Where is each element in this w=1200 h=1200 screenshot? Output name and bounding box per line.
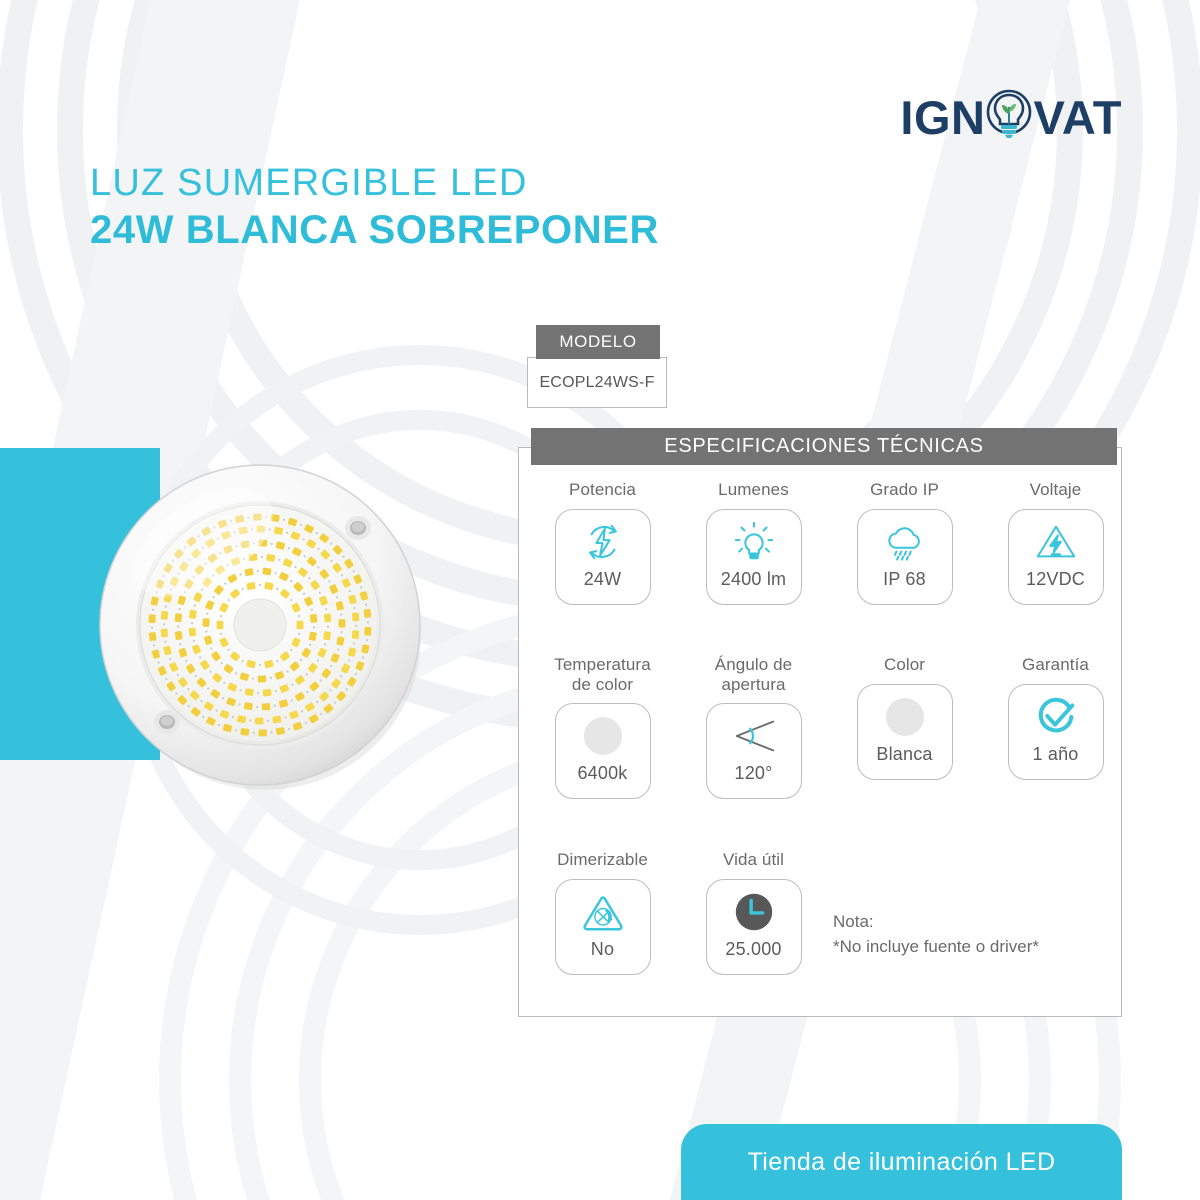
spec-tile: Blanca	[857, 684, 953, 780]
warning-bolt-triangle-icon	[1033, 517, 1079, 567]
spec-row: Temperaturade color6400kÁngulo deapertur…	[527, 655, 1131, 799]
specifications-header-label: ESPECIFICACIONES TÉCNICAS	[664, 435, 983, 458]
spec-value: 25.000	[725, 940, 781, 958]
spec-value: Blanca	[876, 745, 932, 763]
clock-lifetime-icon	[731, 887, 777, 937]
title-line-1: LUZ SUMERGIBLE LED	[90, 163, 659, 204]
spec-tile: 1 año	[1008, 684, 1104, 780]
spec-label: Ángulo deapertura	[715, 655, 792, 696]
footer-banner: Tienda de iluminación LED	[681, 1124, 1122, 1200]
spec-tile: IP 68	[857, 509, 953, 605]
rain-cloud-icon	[882, 517, 928, 567]
spec-tile: 120°	[706, 703, 802, 799]
spec-cell-potencia: Potencia24W	[527, 480, 678, 605]
spec-cell-grado-ip: Grado IPIP 68	[829, 480, 980, 605]
spec-label: Potencia	[569, 480, 636, 502]
model-box: ECOPL24WS-F	[527, 357, 667, 408]
spec-label: Lumenes	[718, 480, 789, 502]
spec-cell-voltaje: Voltaje12VDC	[980, 480, 1131, 605]
page-title: LUZ SUMERGIBLE LED 24W BLANCA SOBREPONER	[90, 163, 659, 255]
power-recycle-bolt-icon	[580, 517, 626, 567]
shining-bulb-icon	[731, 517, 777, 567]
spec-value: IP 68	[883, 570, 926, 588]
spec-tile: 25.000	[706, 879, 802, 975]
spec-label: Vida útil	[723, 850, 784, 872]
model-header-label: MODELO	[559, 332, 636, 352]
spec-tile: 24W	[555, 509, 651, 605]
spec-tile: 12VDC	[1008, 509, 1104, 605]
check-circle-icon	[1033, 692, 1079, 742]
specifications-header: ESPECIFICACIONES TÉCNICAS	[531, 428, 1117, 465]
spec-tile: 2400 lm	[706, 509, 802, 605]
title-line-2: 24W BLANCA SOBREPONER	[90, 206, 659, 255]
spec-tile: No	[555, 879, 651, 975]
spec-row: Potencia24WLumenes2400 lmGrado IPIP 68Vo…	[527, 480, 1131, 605]
spec-label: Voltaje	[1030, 480, 1082, 502]
spec-value: 120°	[734, 764, 772, 782]
spec-row: DimerizableNoVida útil25.000	[527, 850, 829, 975]
product-image-led-panel	[95, 460, 425, 790]
model-header: MODELO	[536, 325, 660, 359]
no-dimmer-triangle-icon	[580, 887, 626, 937]
model-value: ECOPL24WS-F	[539, 374, 654, 392]
spec-value: 24W	[584, 570, 622, 588]
spec-value: 1 año	[1032, 745, 1078, 763]
spec-label: Grado IP	[870, 480, 939, 502]
spec-cell-ngulo-de-apertura: Ángulo deapertura120°	[678, 655, 829, 799]
brand-logo: IGN VAT	[900, 88, 1122, 147]
spec-cell-vida-til: Vida útil25.000	[678, 850, 829, 975]
spec-cell-temperatura-de-color: Temperaturade color6400k	[527, 655, 678, 799]
color-swatch-circle-icon	[584, 711, 622, 761]
spec-value: 6400k	[577, 764, 627, 782]
spec-value: 12VDC	[1026, 570, 1085, 588]
footer-banner-label: Tienda de iluminación LED	[748, 1148, 1056, 1177]
spec-label: Color	[884, 655, 925, 677]
spec-value: No	[591, 940, 614, 958]
spec-tile: 6400k	[555, 703, 651, 799]
note-title: Nota:	[833, 910, 1039, 935]
note-text: *No incluye fuente o driver*	[833, 935, 1039, 960]
beam-angle-icon	[729, 711, 779, 761]
logo-text-right: VAT	[1033, 94, 1122, 141]
spec-cell-color: ColorBlanca	[829, 655, 980, 799]
note-block: Nota: *No incluye fuente o driver*	[833, 910, 1039, 959]
spec-label: Dimerizable	[557, 850, 648, 872]
spec-cell-garant-a: Garantía1 año	[980, 655, 1131, 799]
spec-label: Temperaturade color	[554, 655, 651, 696]
spec-cell-lumenes: Lumenes2400 lm	[678, 480, 829, 605]
spec-value: 2400 lm	[721, 570, 786, 588]
lightbulb-leaf-icon	[986, 88, 1032, 147]
spec-cell-dimerizable: DimerizableNo	[527, 850, 678, 975]
logo-text-left: IGN	[900, 94, 985, 141]
color-swatch-circle-icon	[886, 692, 924, 742]
spec-label: Garantía	[1022, 655, 1089, 677]
